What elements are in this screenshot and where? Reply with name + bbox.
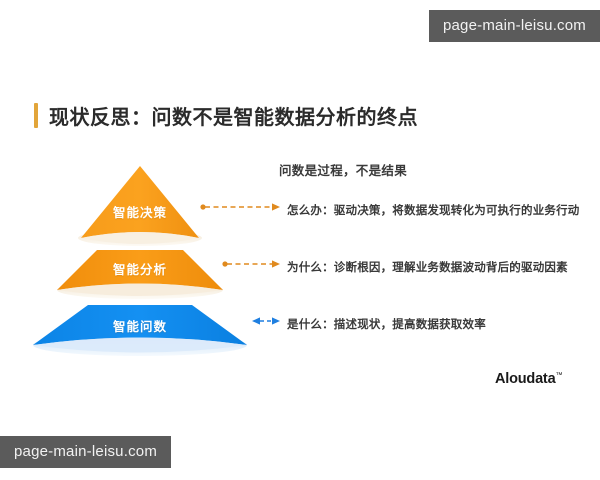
pyramid-tier-label-bottom: 智能问数 <box>113 316 167 335</box>
watermark-bottom: page-main-leisu.com <box>0 436 171 468</box>
pyramid-tier-label-middle: 智能分析 <box>113 259 167 278</box>
aloudata-logo: Aloudata™ <box>495 371 562 387</box>
arrow-middle-tier <box>222 260 280 267</box>
pyramid-graphic <box>0 0 600 480</box>
diagram-heading: 问数是过程，不是结果 <box>279 160 407 179</box>
logo-text: Aloudata <box>495 371 555 387</box>
annotation-top-tier: 怎么办：驱动决策，将数据发现转化为可执行的业务行动 <box>287 202 580 218</box>
pyramid-diagram: 智能决策 智能分析 智能问数 问数是过程，不是结果 怎么办：驱动决策，将数据发现… <box>0 0 600 480</box>
annotation-middle-tier: 为什么：诊断根因，理解业务数据波动背后的驱动因素 <box>287 259 568 275</box>
arrow-bottom-tier <box>252 317 280 324</box>
arrow-top-tier <box>200 203 280 210</box>
annotation-bottom-tier: 是什么：描述现状，提高数据获取效率 <box>287 316 486 332</box>
pyramid-tier-label-top: 智能决策 <box>113 202 167 221</box>
logo-trademark-icon: ™ <box>555 372 562 379</box>
